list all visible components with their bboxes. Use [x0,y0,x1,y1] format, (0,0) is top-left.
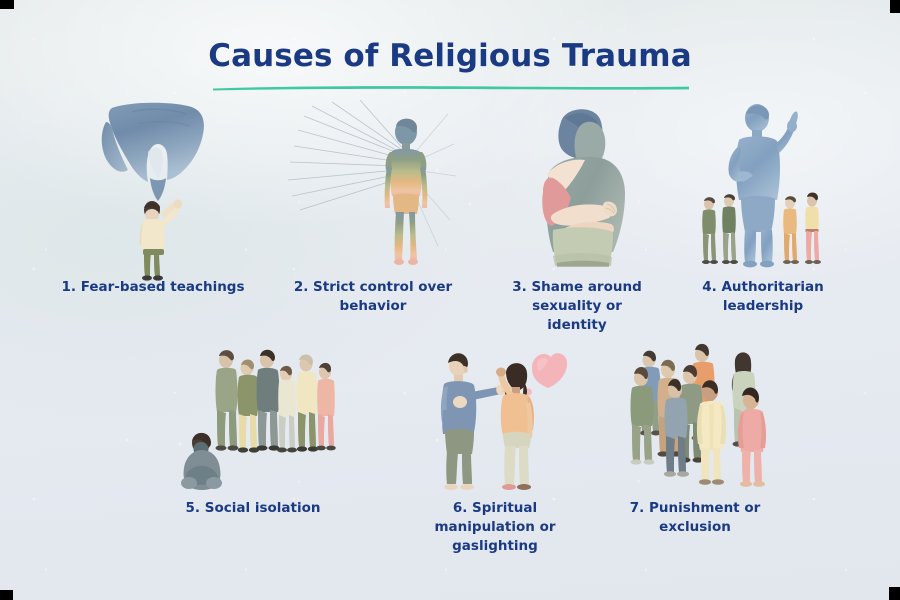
item-7-punishment-exclusion[interactable]: 7. Punishment or exclusion [570,340,820,537]
marionette-puppet-strings-icon [288,100,458,272]
art-fear-based-teachings [88,100,218,272]
giant-pointing-hand-over-person-icon [88,100,218,272]
item-1-label: 1. Fear-based teachings [28,278,278,297]
item-4-label: 4. Authoritarian leadership [638,278,888,316]
infographic-canvas: Causes of Religious Trauma [0,0,900,600]
bottom-row: 5. Social isolation [0,340,900,565]
title-underline-stroke [211,84,691,91]
art-shame-sexuality-identity [513,100,641,272]
follower-1 [702,197,718,264]
thought-bubble [524,353,567,395]
item-5-label: 5. Social isolation [128,499,378,518]
art-social-isolation [168,340,338,495]
giant-leader-over-crowd-icon [693,100,833,272]
art-authoritarian-leadership [693,100,833,272]
item-4-authoritarian-leadership[interactable]: 4. Authoritarian leadership [638,100,888,316]
follower-4 [805,193,821,265]
item-7-label: 7. Punishment or exclusion [570,499,820,537]
follower-2 [722,194,738,264]
art-spiritual-manipulation [420,340,570,495]
group-with-lone-seated-person-icon [168,340,338,495]
art-punishment-exclusion [610,340,780,495]
isolated-person [181,433,222,490]
person-arms-crossed-self-hug-icon [513,100,641,272]
follower-3 [783,196,799,264]
item-5-social-isolation[interactable]: 5. Social isolation [128,340,378,518]
art-strict-control [288,100,458,272]
page-title: Causes of Religious Trauma [0,38,900,74]
corner-notch-bottom-left [0,590,13,600]
crowd-excluding-person-icon [610,340,780,495]
crowd-group [216,350,336,453]
corner-notch-bottom-right [889,587,900,600]
small-person-figure [140,199,183,280]
title-block: Causes of Religious Trauma [0,38,900,74]
two-people-arguing-thought-bubble-icon [420,340,570,495]
top-row: 1. Fear-based teachings [0,100,900,335]
corner-notch-top-right [890,0,900,13]
corner-notch-top-left [0,0,14,9]
person-gaslighted [496,363,534,490]
item-1-fear-based-teachings[interactable]: 1. Fear-based teachings [28,100,278,297]
